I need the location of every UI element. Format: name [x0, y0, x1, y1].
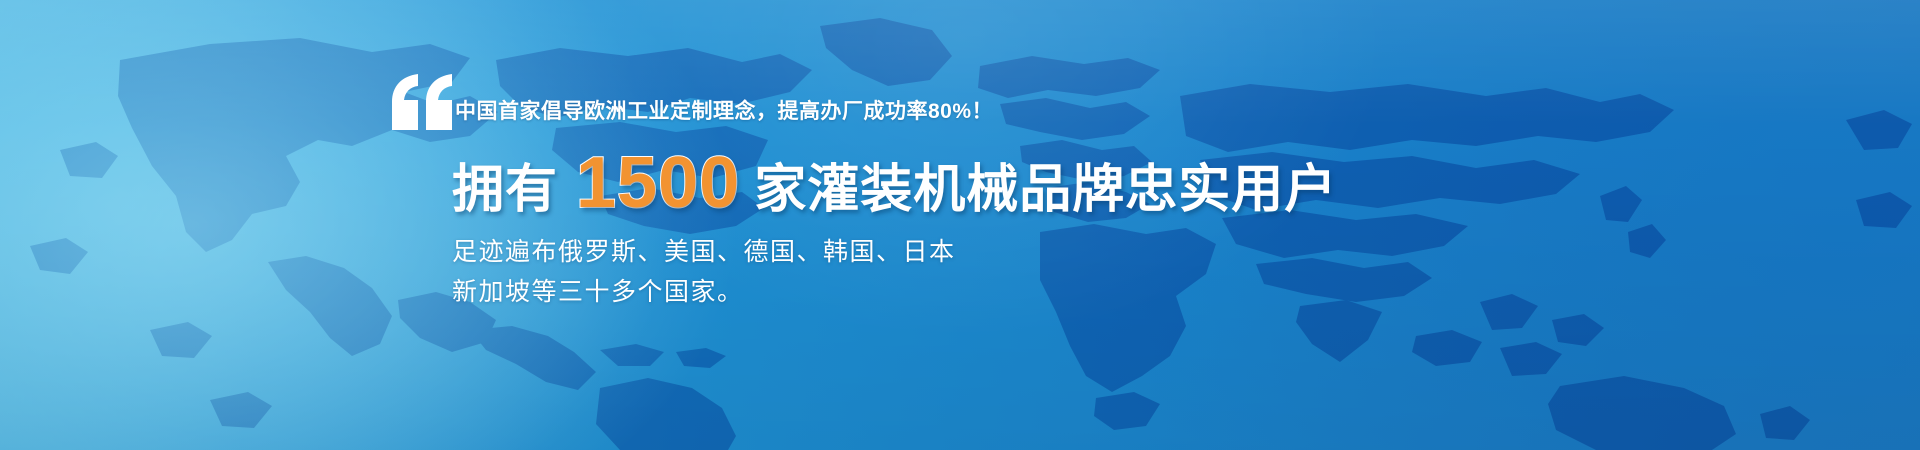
banner-eyebrow-text: 中国首家倡导欧洲工业定制理念，提高办厂成功率80%！	[455, 95, 993, 125]
banner-content: 中国首家倡导欧洲工业定制理念，提高办厂成功率80%！ 拥有 1500 家灌装机械…	[0, 0, 1920, 450]
headline-suffix: 家灌装机械品牌忠实用户	[754, 147, 1337, 222]
subtext-line-2: 新加坡等三十多个国家。	[452, 272, 956, 312]
subtext-line-1: 足迹遍布俄罗斯、美国、德国、韩国、日本	[452, 232, 956, 272]
banner-subtext: 足迹遍布俄罗斯、美国、德国、韩国、日本 新加坡等三十多个国家。	[452, 232, 956, 312]
banner-headline: 拥有 1500 家灌装机械品牌忠实用户	[452, 142, 1337, 224]
headline-prefix: 拥有	[452, 147, 558, 222]
headline-number: 1500	[576, 142, 740, 224]
hero-banner: 中国首家倡导欧洲工业定制理念，提高办厂成功率80%！ 拥有 1500 家灌装机械…	[0, 0, 1920, 450]
quotation-mark-icon	[388, 74, 458, 130]
